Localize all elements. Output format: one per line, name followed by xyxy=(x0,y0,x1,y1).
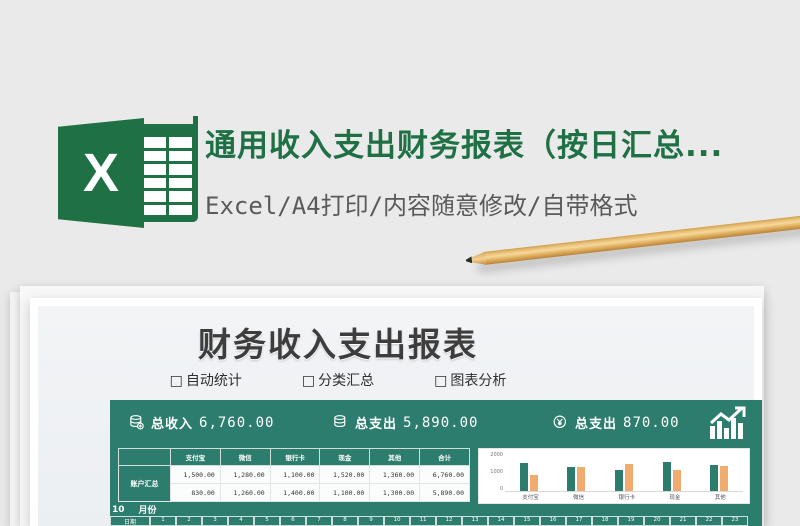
cell-value: 1,520.00 xyxy=(320,466,370,484)
day-column-header: 10 xyxy=(384,516,410,526)
chart-bar-支出 xyxy=(625,464,633,491)
day-column-header: 15 xyxy=(514,516,540,526)
day-column-header: 7 xyxy=(306,516,332,526)
chart-y-axis: 2000 1000 0 xyxy=(483,452,503,498)
column-header-other: 其他 xyxy=(370,449,420,466)
day-column-header: 11 xyxy=(410,516,436,526)
stat-total-expense: 总支出 5,890.00 xyxy=(332,413,478,432)
checkbox-icon: □ xyxy=(302,373,315,389)
x-tick-label: 其他 xyxy=(715,493,726,501)
document-feature-checkboxes: □自动统计 □分类汇总 □图表分析 xyxy=(38,370,638,390)
chart-plot-area xyxy=(505,453,743,492)
banner-subtitle: Excel/A4打印/内容随意修改/自带格式 xyxy=(205,186,800,221)
chart-bar-group xyxy=(567,453,585,491)
checkbox-icon: □ xyxy=(434,373,447,389)
y-tick-label: 0 xyxy=(500,486,503,492)
stat-label: 总收入 xyxy=(151,413,193,432)
summary-stats-bar: 总收入 6,760.00 总支出 5,890.00 xyxy=(110,400,762,448)
feature-label: 分类汇总 xyxy=(318,373,374,389)
stat-total-income: 总收入 6,760.00 xyxy=(128,413,274,432)
feature-label: 自动统计 xyxy=(186,373,242,389)
cell-value: 1,300.00 xyxy=(370,484,420,502)
product-banner: X 通用收入支出财务报表（按日汇总... Excel/A4打印/内容随意修改/自… xyxy=(0,52,800,187)
cell-value: 1,100.00 xyxy=(320,484,370,502)
chart-x-axis: 支付宝微信银行卡现金其他 xyxy=(505,493,743,501)
stat-label: 总支出 xyxy=(575,413,617,432)
day-column-header: 8 xyxy=(332,516,358,526)
cell-value: 1,360.00 xyxy=(370,466,420,484)
column-header-cash: 现金 xyxy=(320,449,370,466)
day-column-header: 20 xyxy=(644,516,670,526)
row-label-account-summary: 账户汇总 xyxy=(119,466,171,502)
feature-checkbox-category-summary: □分类汇总 xyxy=(302,370,374,390)
cell-value: 1,400.00 xyxy=(270,484,320,502)
chart-bar-收入 xyxy=(520,463,528,492)
day-column-header: 12 xyxy=(436,516,462,526)
day-column-header: 23 xyxy=(722,516,748,526)
day-column-header: 16 xyxy=(540,516,566,526)
day-row-label: 日期 xyxy=(110,516,150,526)
table-header-row: 支付宝 微信 银行卡 现金 其他 合计 xyxy=(119,449,470,466)
chart-bar-group xyxy=(520,453,538,491)
chart-bar-支出 xyxy=(720,466,728,491)
day-column-header: 5 xyxy=(254,516,280,526)
chart-bar-group xyxy=(710,453,728,491)
cell-value: 1,100.00 xyxy=(270,466,320,484)
cell-value: 830.00 xyxy=(171,484,221,502)
table-row: 账户汇总 1,500.00 1,280.00 1,100.00 1,520.00… xyxy=(119,466,470,484)
x-tick-label: 支付宝 xyxy=(522,493,539,501)
chart-bar-收入 xyxy=(567,467,575,491)
excel-logo-letter: X xyxy=(58,118,144,228)
chart-bar-收入 xyxy=(663,462,671,491)
day-column-header: 19 xyxy=(618,516,644,526)
day-column-header: 21 xyxy=(670,516,696,526)
banner-title: 通用收入支出财务报表（按日汇总... xyxy=(205,120,800,165)
cell-value: 1,280.00 xyxy=(220,466,270,484)
cell-value: 1,500.00 xyxy=(171,466,221,484)
pencil-graphite-tip xyxy=(466,256,473,264)
stat-value: 6,760.00 xyxy=(199,415,274,431)
x-tick-label: 微信 xyxy=(573,493,584,501)
day-column-header: 22 xyxy=(696,516,722,526)
cell-value: 5,890.00 xyxy=(420,484,470,502)
report-panel: 总收入 6,760.00 总支出 5,890.00 xyxy=(110,400,762,526)
day-column-header: 14 xyxy=(488,516,514,526)
x-tick-label: 现金 xyxy=(669,493,680,501)
month-number: 10 xyxy=(112,505,125,515)
stat-value: 870.00 xyxy=(623,415,680,431)
cell-value: 6,760.00 xyxy=(420,466,470,484)
document-title: 财务收入支出报表 xyxy=(38,318,638,366)
day-column-header: 9 xyxy=(358,516,384,526)
month-label: 月份 xyxy=(139,503,157,516)
day-column-header: 6 xyxy=(280,516,306,526)
database-plus-icon xyxy=(128,414,145,431)
day-column-header: 17 xyxy=(566,516,592,526)
screenshot-stage: X 通用收入支出财务报表（按日汇总... Excel/A4打印/内容随意修改/自… xyxy=(0,0,800,526)
excel-logo-icon: X xyxy=(58,112,198,234)
day-header-row: 日期1234567891011121314151617181920212223 xyxy=(110,516,762,526)
stat-value: 5,890.00 xyxy=(403,415,478,431)
cell-value: 1,260.00 xyxy=(220,484,270,502)
day-column-header: 3 xyxy=(202,516,228,526)
database-minus-icon xyxy=(332,414,349,431)
yuan-circle-icon xyxy=(552,414,569,431)
y-tick-label: 2000 xyxy=(490,452,503,458)
chart-bar-group xyxy=(663,453,681,491)
excel-logo-grid-top xyxy=(136,124,198,134)
feature-label: 图表分析 xyxy=(450,373,506,389)
account-summary-table: 支付宝 微信 银行卡 现金 其他 合计 账户汇总 1,500.00 1,280.… xyxy=(118,448,470,500)
chart-bar-group xyxy=(615,453,633,491)
feature-checkbox-chart-analysis: □图表分析 xyxy=(434,370,506,390)
day-column-header: 2 xyxy=(176,516,202,526)
day-column-header: 13 xyxy=(462,516,488,526)
account-bar-chart: 2000 1000 0 支付宝微信银行卡现金其他 xyxy=(478,448,750,504)
feature-checkbox-auto-stats: □自动统计 xyxy=(170,370,242,390)
trend-up-bar-icon xyxy=(708,406,748,442)
chart-bar-支出 xyxy=(577,467,585,491)
table-row: 830.00 1,260.00 1,400.00 1,100.00 1,300.… xyxy=(119,484,470,502)
checkbox-icon: □ xyxy=(170,373,183,389)
chart-bar-支出 xyxy=(673,470,681,491)
column-header-alipay: 支付宝 xyxy=(171,449,221,466)
y-tick-label: 1000 xyxy=(490,469,503,475)
chart-bar-支出 xyxy=(530,475,538,491)
title-accent-bar xyxy=(193,116,198,164)
day-column-header: 1 xyxy=(150,516,176,526)
x-tick-label: 银行卡 xyxy=(618,493,635,501)
column-header-bankcard: 银行卡 xyxy=(270,449,320,466)
chart-bar-收入 xyxy=(615,470,623,491)
excel-logo-grid xyxy=(136,124,198,222)
chart-bar-收入 xyxy=(710,465,718,491)
header-corner xyxy=(119,449,171,466)
excel-logo-cells xyxy=(143,137,192,215)
month-row: 10 月份 xyxy=(110,503,762,516)
column-header-wechat: 微信 xyxy=(220,449,270,466)
column-header-total: 合计 xyxy=(420,449,470,466)
stat-label: 总支出 xyxy=(355,413,397,432)
stat-balance: 总支出 870.00 xyxy=(552,413,680,432)
day-column-header: 18 xyxy=(592,516,618,526)
day-column-header: 4 xyxy=(228,516,254,526)
